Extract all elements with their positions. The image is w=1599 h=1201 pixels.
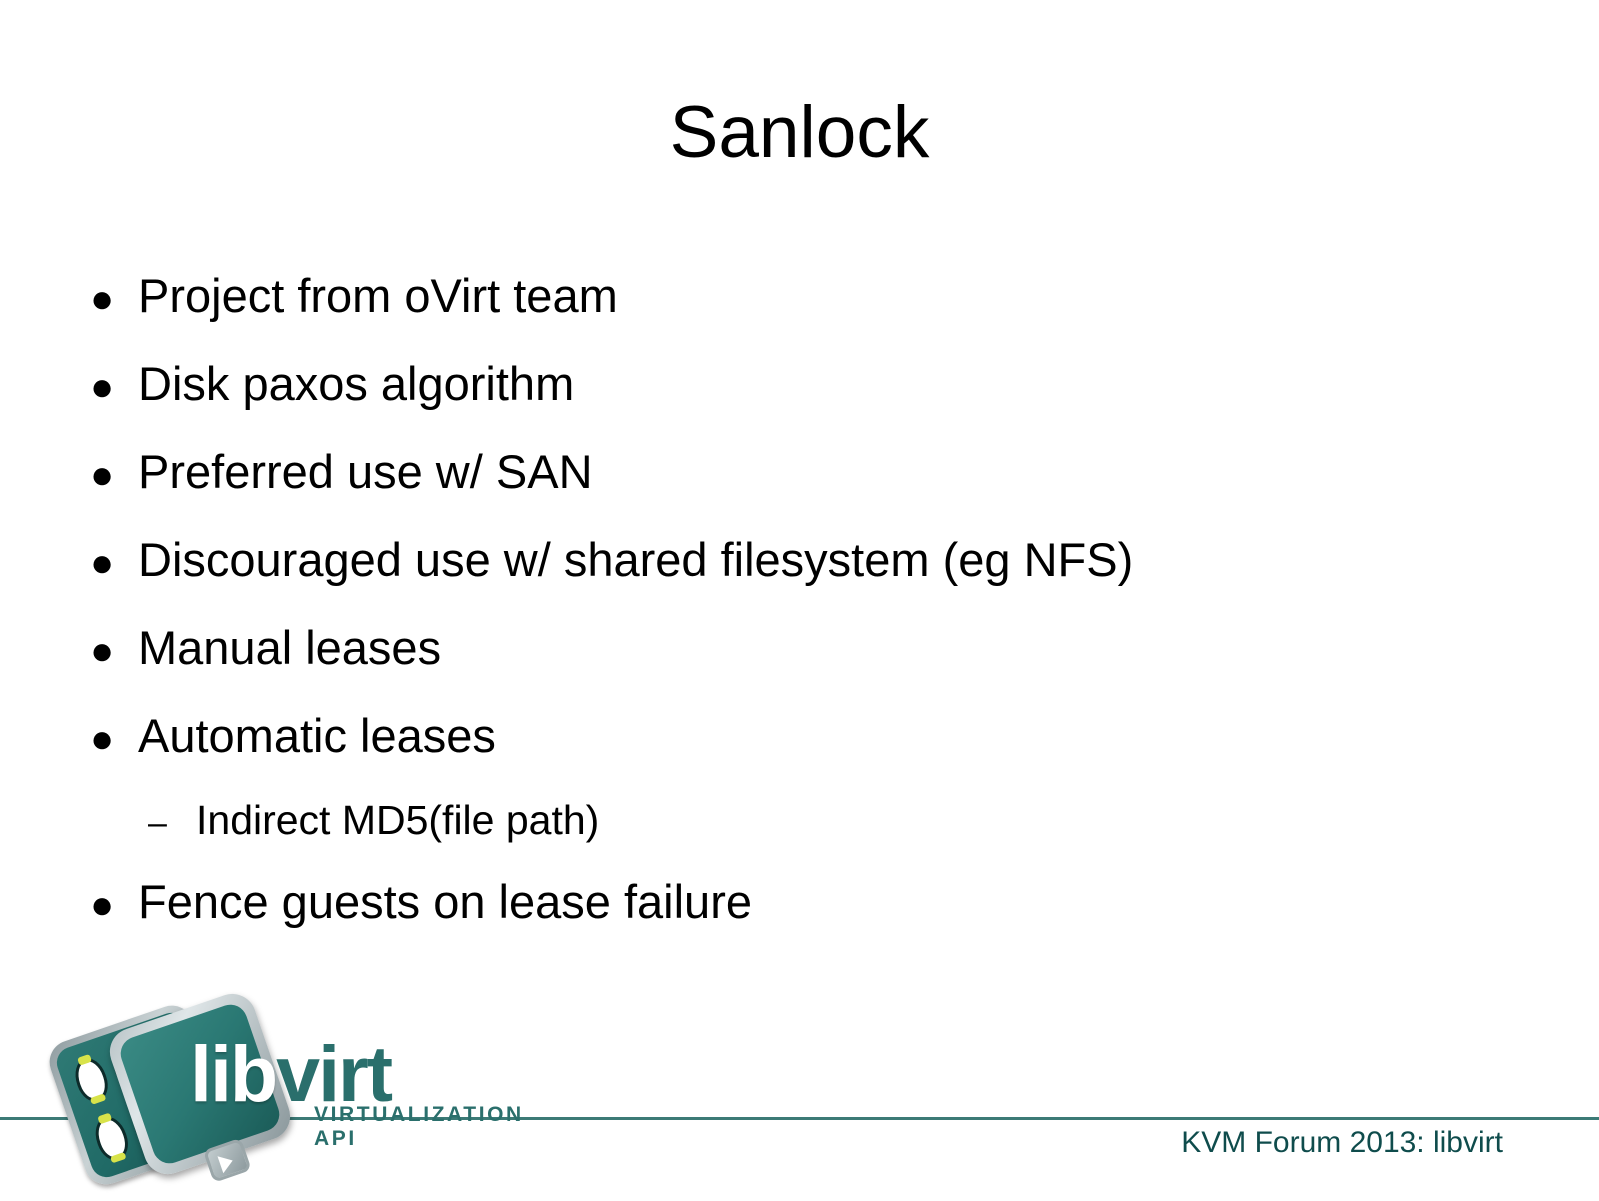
list-item-label: Preferred use w/ SAN [138, 448, 593, 495]
list-item-label: Fence guests on lease failure [138, 878, 752, 925]
list-item-label: Disk paxos algorithm [138, 360, 574, 407]
page-title: Sanlock [0, 96, 1599, 169]
bullet-list: ● Project from oVirt team ● Disk paxos a… [0, 272, 1599, 966]
bullet-marker-icon: ● [90, 279, 138, 319]
bullet-marker-icon: ● [90, 455, 138, 495]
list-item-label: Discouraged use w/ shared filesystem (eg… [138, 536, 1133, 583]
dash-marker-icon: – [148, 806, 196, 840]
list-item: ● Manual leases [0, 624, 1599, 712]
list-item-label: Indirect MD5(file path) [196, 800, 599, 841]
bullet-marker-icon: ● [90, 631, 138, 671]
list-item: ● Preferred use w/ SAN [0, 448, 1599, 536]
bullet-marker-icon: ● [90, 543, 138, 583]
penguin-icon [90, 1113, 133, 1164]
footer-label: KVM Forum 2013: libvirt [1181, 1126, 1503, 1160]
logo-wordmark: libvirt [190, 1034, 391, 1113]
bullet-marker-icon: ● [90, 367, 138, 407]
list-item: ● Disk paxos algorithm [0, 360, 1599, 448]
libvirt-logo: libvirt VIRTUALIZATION API [62, 1006, 462, 1181]
list-item-label: Project from oVirt team [138, 272, 618, 319]
bullet-marker-icon: ● [90, 885, 138, 925]
list-item-label: Manual leases [138, 624, 441, 671]
penguin-icon [70, 1054, 113, 1105]
list-item: ● Fence guests on lease failure [0, 878, 1599, 966]
list-item: ● Project from oVirt team [0, 272, 1599, 360]
logo-word-lib: lib [190, 1029, 276, 1118]
list-item: ● Automatic leases [0, 712, 1599, 800]
logo-tagline: VIRTUALIZATION API [314, 1103, 524, 1151]
list-item-sub: – Indirect MD5(file path) [0, 800, 1599, 878]
list-item-label: Automatic leases [138, 712, 496, 759]
list-item: ● Discouraged use w/ shared filesystem (… [0, 536, 1599, 624]
bullet-marker-icon: ● [90, 719, 138, 759]
